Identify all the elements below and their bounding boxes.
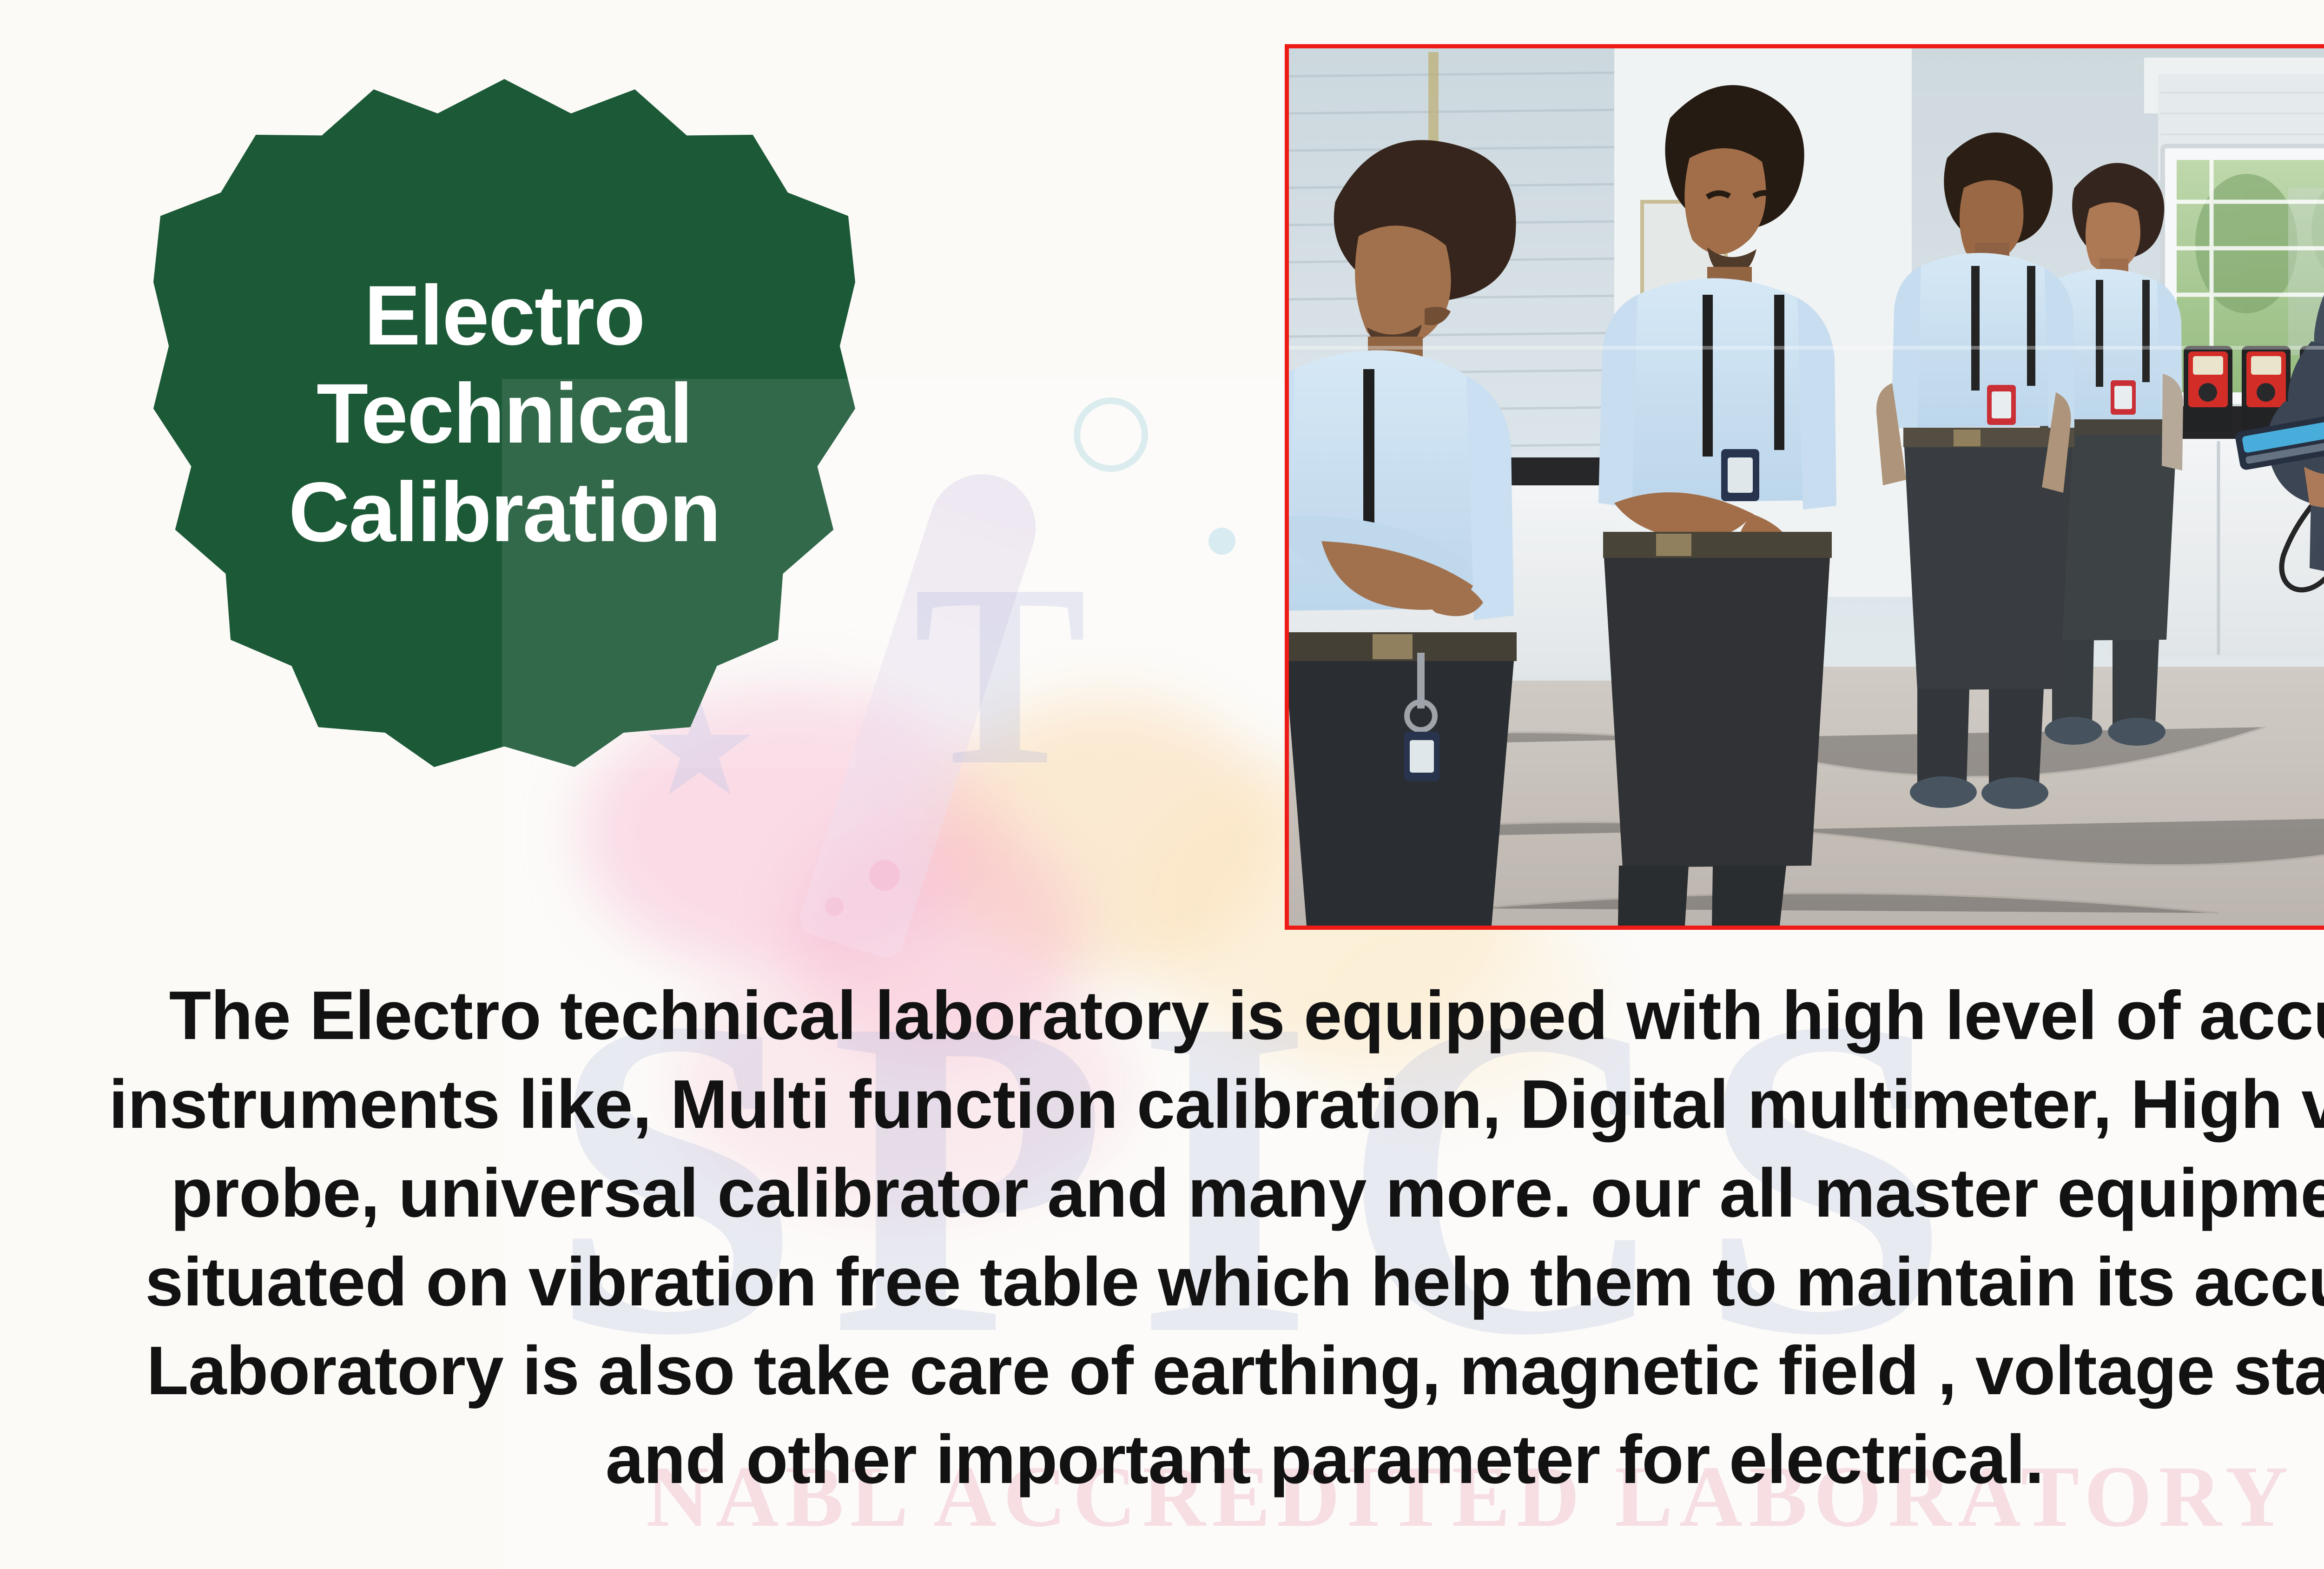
electro-technical-calibration-badge: Electro Technical Calibration: [153, 79, 855, 767]
laboratory-photo-frame: [1285, 44, 2324, 930]
watermark-blob-amber-1: [930, 697, 1283, 976]
watermark-blob-pink-1: [581, 688, 999, 976]
watermark-dot-icon-2: [869, 860, 900, 891]
laboratory-photo: [1289, 48, 2324, 926]
watermark-ring-icon: [1074, 397, 1148, 472]
watermark-letter-mark: T: [913, 525, 1087, 825]
watermark-dot-icon-3: [825, 897, 844, 916]
watermark-dot-icon-1: [1208, 528, 1235, 555]
badge-title: Electro Technical Calibration: [289, 266, 720, 579]
badge-title-line-1: Electro: [289, 266, 720, 364]
body-paragraph: The Electro technical laboratory is equi…: [84, 972, 2324, 1504]
badge-title-line-3: Calibration: [289, 463, 720, 561]
badge-title-line-2: Technical: [289, 364, 720, 463]
watermark-probe-icon: [796, 460, 1050, 962]
